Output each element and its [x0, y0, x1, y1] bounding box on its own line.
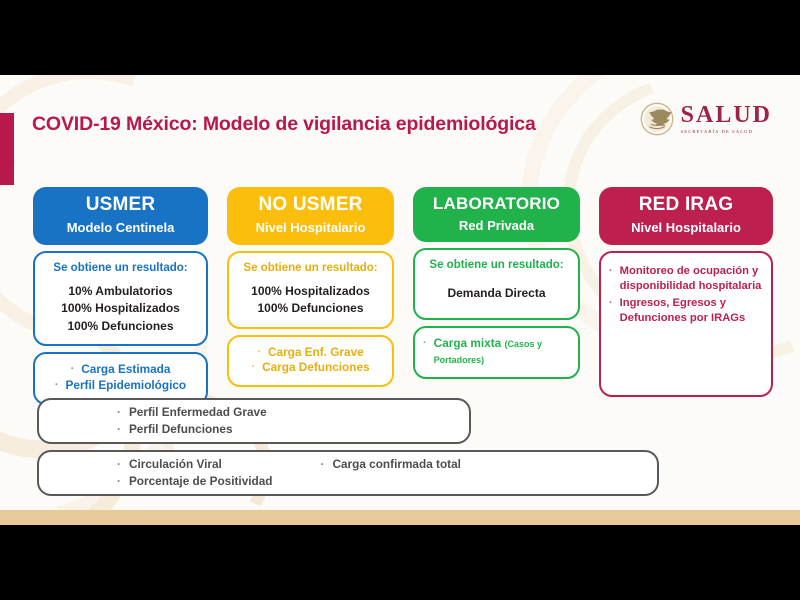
outputs-card-red-irag: ·Monitoreo de ocupación y disponibilidad… — [599, 251, 773, 397]
result-line: Demanda Directa — [423, 285, 570, 302]
list-item-label: Carga mixta (Casos y Portadores) — [434, 336, 570, 368]
column-title: LABORATORIO — [417, 194, 576, 214]
list-item: ·Monitoreo de ocupación y disponibilidad… — [609, 264, 763, 294]
summary-box-circulacion: ·Circulación Viral ·Porcentaje de Positi… — [37, 450, 659, 496]
column-header-usmer[interactable]: USMER Modelo Centinela — [33, 187, 208, 245]
slide-footer-band — [0, 510, 800, 525]
bullet-dot-icon: · — [55, 378, 59, 393]
bullet-dot-icon: · — [251, 360, 255, 375]
result-line: 100% Defunciones — [43, 318, 198, 335]
list-item: ·Perfil Enfermedad Grave — [117, 404, 267, 421]
column-header-red-irag[interactable]: RED IRAG Nivel Hospitalario — [599, 187, 773, 245]
list-item: ·Perfil Defunciones — [117, 421, 267, 438]
bullet-dot-icon: · — [71, 362, 75, 377]
list-item-label: Circulación Viral — [129, 456, 222, 473]
column-header-no-usmer[interactable]: NO USMER Nivel Hospitalario — [227, 187, 394, 245]
result-line: 100% Hospitalizados — [237, 283, 384, 300]
result-line: 10% Ambulatorios — [43, 283, 198, 300]
result-lines: 100% Hospitalizados 100% Defunciones — [237, 283, 384, 318]
summary-left-list: ·Circulación Viral ·Porcentaje de Positi… — [117, 456, 273, 490]
column-subtitle: Nivel Hospitalario — [603, 221, 769, 236]
column-title: RED IRAG — [603, 194, 769, 216]
column-title: USMER — [37, 194, 204, 216]
column-subtitle: Modelo Centinela — [37, 221, 204, 236]
list-item-label: Perfil Defunciones — [129, 421, 233, 438]
mexican-eagle-seal-icon — [640, 102, 674, 136]
result-lead: Se obtiene un resultado: — [237, 262, 384, 274]
list-item: ·Carga confirmada total — [321, 456, 461, 473]
result-card-laboratorio: Se obtiene un resultado: Demanda Directa — [413, 248, 580, 319]
list-item-label: Monitoreo de ocupación y disponibilidad … — [620, 264, 763, 294]
summary-right-list: ·Carga confirmada total — [321, 456, 461, 490]
outputs-card-no-usmer: ·Carga Enf. Grave ·Carga Defunciones — [227, 335, 394, 388]
column-laboratorio: LABORATORIO Red Privada Se obtiene un re… — [413, 187, 580, 405]
list-item-label: Perfil Enfermedad Grave — [129, 404, 267, 421]
result-card-usmer: Se obtiene un resultado: 10% Ambulatorio… — [33, 251, 208, 346]
list-item-label: Carga Enf. Grave — [268, 345, 364, 361]
bullet-dot-icon: · — [423, 336, 427, 351]
list-item: ·Ingresos, Egresos y Defunciones por IRA… — [609, 296, 763, 326]
summary-box-perfiles: ·Perfil Enfermedad Grave ·Perfil Defunci… — [37, 398, 471, 444]
list-item-label: Ingresos, Egresos y Defunciones por IRAG… — [620, 296, 763, 326]
logo-subtitle: SECRETARÍA DE SALUD — [681, 130, 753, 135]
list-item-label: Carga Estimada — [81, 362, 170, 378]
logo-wordmark: SALUD — [681, 103, 772, 127]
column-no-usmer: NO USMER Nivel Hospitalario Se obtiene u… — [227, 187, 394, 405]
list-item: ·Carga Estimada — [43, 362, 198, 378]
column-subtitle: Red Privada — [417, 219, 576, 234]
result-line: 100% Hospitalizados — [43, 300, 198, 317]
bullet-dot-icon: · — [117, 473, 121, 490]
list-item-label: Carga confirmada total — [332, 456, 460, 473]
list-item-label: Porcentaje de Positividad — [129, 473, 273, 490]
bullet-dot-icon: · — [321, 456, 325, 473]
list-item: ·Carga Defunciones — [237, 360, 384, 376]
bullet-dot-icon: · — [117, 421, 121, 438]
column-title: NO USMER — [231, 194, 390, 216]
list-item-text: Carga mixta — [434, 336, 502, 350]
outputs-card-usmer: ·Carga Estimada ·Perfil Epidemiológico — [33, 352, 208, 405]
bullet-dot-icon: · — [257, 345, 261, 360]
salud-logo: SALUD SECRETARÍA DE SALUD — [640, 102, 772, 136]
columns-container: USMER Modelo Centinela Se obtiene un res… — [33, 187, 777, 405]
list-item: ·Porcentaje de Positividad — [117, 473, 273, 490]
outputs-card-laboratorio: · Carga mixta (Casos y Portadores) — [413, 326, 580, 379]
result-card-no-usmer: Se obtiene un resultado: 100% Hospitaliz… — [227, 251, 394, 329]
title-accent-bar — [0, 113, 14, 185]
result-lines: 10% Ambulatorios 100% Hospitalizados 100… — [43, 283, 198, 335]
result-lead: Se obtiene un resultado: — [43, 262, 198, 274]
list-item: ·Perfil Epidemiológico — [43, 378, 198, 394]
list-item-label: Carga Defunciones — [262, 360, 370, 376]
column-header-laboratorio[interactable]: LABORATORIO Red Privada — [413, 187, 580, 242]
result-line: 100% Defunciones — [237, 300, 384, 317]
bullet-dot-icon: · — [609, 264, 613, 279]
page-title: COVID-19 México: Modelo de vigilancia ep… — [32, 113, 536, 136]
bullet-dot-icon: · — [609, 296, 613, 311]
column-usmer: USMER Modelo Centinela Se obtiene un res… — [33, 187, 208, 405]
result-lead: Se obtiene un resultado: — [423, 259, 570, 271]
list-item: ·Carga Enf. Grave — [237, 345, 384, 361]
list-item-label: Perfil Epidemiológico — [66, 378, 187, 394]
result-lines: Demanda Directa — [423, 285, 570, 302]
column-subtitle: Nivel Hospitalario — [231, 221, 390, 236]
bullet-dot-icon: · — [117, 456, 121, 473]
list-item: ·Circulación Viral — [117, 456, 273, 473]
list-item: · Carga mixta (Casos y Portadores) — [423, 336, 570, 368]
slide-canvas: COVID-19 México: Modelo de vigilancia ep… — [0, 75, 800, 510]
bullet-dot-icon: · — [117, 404, 121, 421]
column-red-irag: RED IRAG Nivel Hospitalario ·Monitoreo d… — [599, 187, 773, 405]
